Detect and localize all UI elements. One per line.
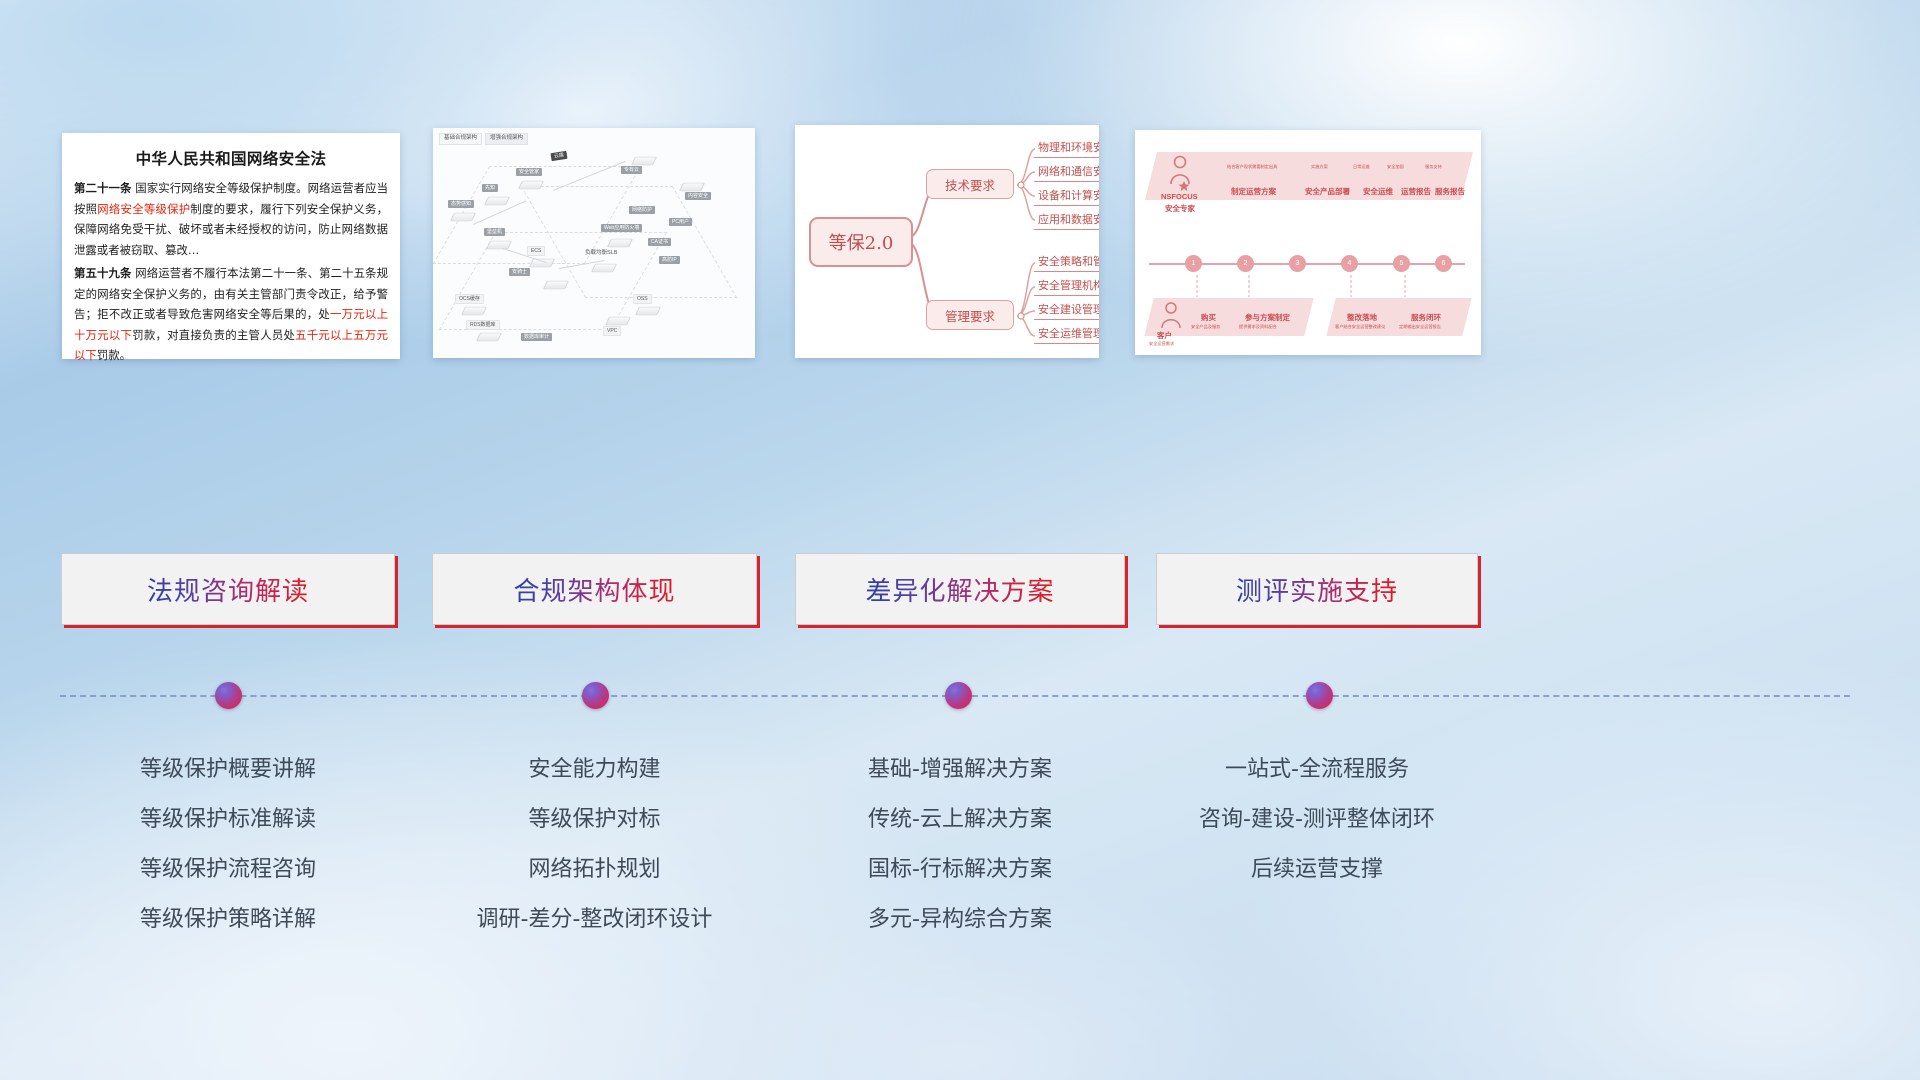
list-item: 一站式-全流程服务 <box>1156 745 1478 795</box>
detail-list-3: 基础-增强解决方案 传统-云上解决方案 国标-行标解决方案 多元-异构综合方案 <box>795 745 1125 945</box>
list-item: 国标-行标解决方案 <box>795 845 1125 895</box>
list-item: 调研-差分-整改闭环设计 <box>432 895 757 945</box>
list-item: 等级保护流程咨询 <box>61 845 395 895</box>
list-item: 等级保护策略详解 <box>61 895 395 945</box>
list-item: 等级保护概要讲解 <box>61 745 395 795</box>
detail-column-3: 基础-增强解决方案 传统-云上解决方案 国标-行标解决方案 多元-异构综合方案 <box>795 745 1125 945</box>
list-item: 咨询-建设-测评整体闭环 <box>1156 795 1478 845</box>
list-item: 等级保护标准解读 <box>61 795 395 845</box>
detail-list-1: 等级保护概要讲解 等级保护标准解读 等级保护流程咨询 等级保护策略详解 <box>61 745 395 945</box>
list-item: 后续运营支撑 <box>1156 845 1478 895</box>
detail-column-4: 一站式-全流程服务 咨询-建设-测评整体闭环 后续运营支撑 <box>1156 745 1478 895</box>
list-item: 多元-异构综合方案 <box>795 895 1125 945</box>
detail-column-2: 安全能力构建 等级保护对标 网络拓扑规划 调研-差分-整改闭环设计 <box>432 745 757 945</box>
list-item: 等级保护对标 <box>432 795 757 845</box>
detail-column-row: 等级保护概要讲解 等级保护标准解读 等级保护流程咨询 等级保护策略详解 安全能力… <box>0 0 1920 1080</box>
list-item: 传统-云上解决方案 <box>795 795 1125 845</box>
list-item: 基础-增强解决方案 <box>795 745 1125 795</box>
detail-list-2: 安全能力构建 等级保护对标 网络拓扑规划 调研-差分-整改闭环设计 <box>432 745 757 945</box>
detail-column-1: 等级保护概要讲解 等级保护标准解读 等级保护流程咨询 等级保护策略详解 <box>61 745 395 945</box>
list-item: 安全能力构建 <box>432 745 757 795</box>
detail-list-4: 一站式-全流程服务 咨询-建设-测评整体闭环 后续运营支撑 <box>1156 745 1478 895</box>
list-item: 网络拓扑规划 <box>432 845 757 895</box>
